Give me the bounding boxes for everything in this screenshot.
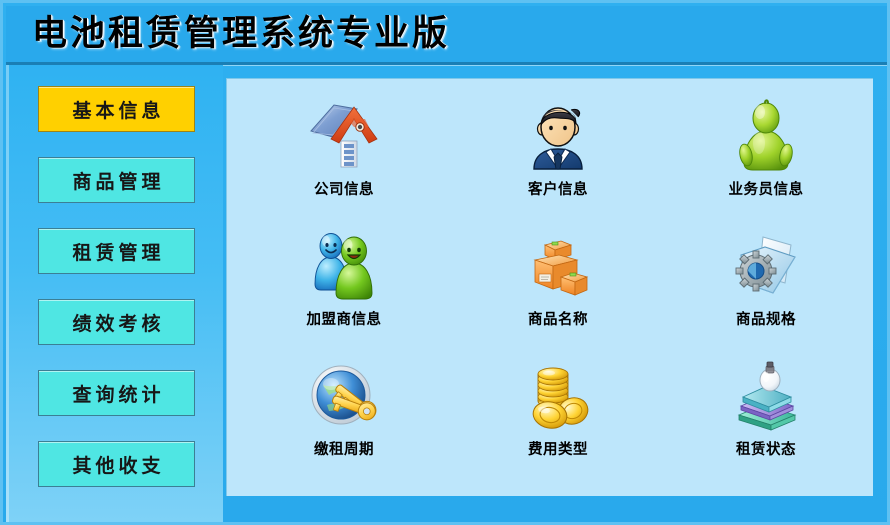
businessman-icon [521,97,595,175]
icon-grid: 公司信息 [227,79,874,497]
sidebar-item-label: 绩效考核 [68,309,164,336]
application-window: 电池租赁管理系统专业版 基本信息 商品管理 租赁管理 绩效考核 查询统计 其他收… [0,0,890,525]
sidebar-item-other-income[interactable]: 其他收支 [38,441,195,487]
grid-item-label: 商品规格 [736,308,796,329]
books-lamp-icon [729,357,803,435]
gear-document-icon [729,227,803,305]
grid-item-label: 缴租周期 [314,438,374,459]
sidebar-item-goods-mgmt[interactable]: 商品管理 [38,157,195,203]
sidebar-item-label: 查询统计 [68,380,164,407]
content-panel: 公司信息 [226,78,873,496]
house-icon [307,97,381,175]
grid-item-label: 租赁状态 [736,438,796,459]
grid-item-label: 业务员信息 [729,178,804,199]
grid-item-label: 公司信息 [314,178,374,199]
green-person-icon [729,97,803,175]
sidebar-item-basic-info[interactable]: 基本信息 [38,86,195,132]
grid-item-goods-spec[interactable]: 商品规格 [673,227,859,351]
grid-item-label: 商品名称 [528,308,588,329]
grid-item-label: 客户信息 [528,178,588,199]
grid-item-goods-name[interactable]: 商品名称 [465,227,651,351]
sidebar-item-performance[interactable]: 绩效考核 [38,299,195,345]
boxes-icon [521,227,595,305]
sidebar-item-label: 商品管理 [68,167,164,194]
grid-item-label: 费用类型 [528,438,588,459]
grid-item-label: 加盟商信息 [307,308,382,329]
app-title: 电池租赁管理系统专业版 [32,11,450,57]
sidebar-item-query-stats[interactable]: 查询统计 [38,370,195,416]
gold-coins-icon [521,357,595,435]
sidebar-item-label: 租赁管理 [68,238,164,265]
grid-item-fee-type[interactable]: 费用类型 [465,357,651,481]
sidebar: 基本信息 商品管理 租赁管理 绩效考核 查询统计 其他收支 [6,65,223,525]
sidebar-edge-highlight [6,65,9,525]
grid-item-salesperson-info[interactable]: 业务员信息 [673,97,859,221]
sidebar-item-label: 基本信息 [68,96,164,123]
globe-key-icon [307,357,381,435]
two-people-icon [307,227,381,305]
grid-item-rent-cycle[interactable]: 缴租周期 [251,357,437,481]
sidebar-item-label: 其他收支 [68,451,164,478]
grid-item-company-info[interactable]: 公司信息 [251,97,437,221]
grid-item-rental-status[interactable]: 租赁状态 [673,357,859,481]
grid-item-franchisee-info[interactable]: 加盟商信息 [251,227,437,351]
sidebar-item-rental-mgmt[interactable]: 租赁管理 [38,228,195,274]
grid-item-customer-info[interactable]: 客户信息 [465,97,651,221]
title-bar: 电池租赁管理系统专业版 [6,6,890,62]
